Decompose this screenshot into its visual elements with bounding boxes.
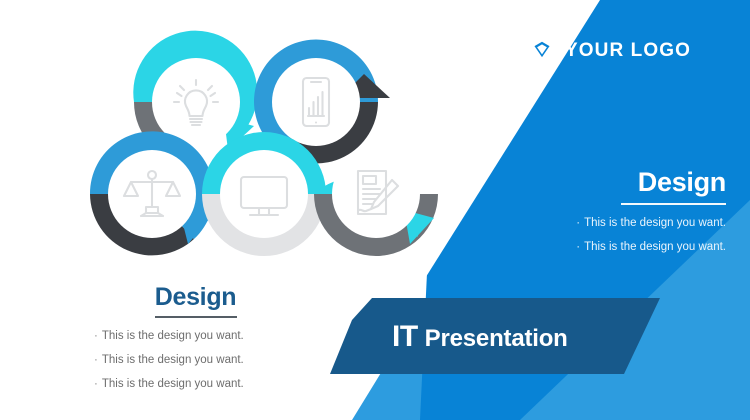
logo-text: YOUR LOGO [565, 41, 691, 60]
left-bullet-3: ·This is the design you want. [88, 378, 303, 390]
left-bullet-3-text: This is the design you want. [102, 378, 244, 390]
logo[interactable]: YOUR LOGO [528, 36, 691, 64]
slide-title: ITPresentation [392, 322, 568, 352]
right-bullet-1-dot: · [576, 217, 580, 229]
left-bullet-2-dot: · [94, 354, 98, 366]
slide-title-rest: Presentation [425, 325, 568, 352]
hexagon-logo-icon [528, 36, 556, 64]
circle-display[interactable] [202, 132, 326, 256]
left-bullet-2-text: This is the design you want. [102, 354, 244, 366]
five-circle-process-diagram: .ico{fill:none;stroke:#DCDEE0;stroke-wid… [84, 22, 464, 282]
left-bullet-1-dot: · [94, 330, 98, 342]
left-heading: Design [88, 284, 303, 312]
right-bullet-2: ·This is the design you want. [456, 241, 726, 253]
left-bullet-1-text: This is the design you want. [102, 330, 244, 342]
right-bullet-1-text: This is the design you want. [584, 217, 726, 229]
right-heading-underline [621, 203, 726, 205]
left-design-block: Design ·This is the design you want. ·Th… [88, 284, 303, 390]
left-heading-underline [155, 316, 237, 318]
slide-canvas: YOUR LOGO .ico{fill:none;stroke:#DCDEE0;… [0, 0, 750, 420]
right-bullet-2-dot: · [576, 241, 580, 253]
circle-contract[interactable] [314, 150, 438, 256]
circle-mobile-inner [272, 58, 360, 146]
right-bullet-2-text: This is the design you want. [584, 241, 726, 253]
right-heading: Design [456, 168, 726, 198]
circle-idea-inner [152, 58, 240, 146]
slide-title-bold: IT [392, 320, 418, 353]
left-bullet-3-dot: · [94, 378, 98, 390]
right-design-block: Design ·This is the design you want. ·Th… [456, 168, 726, 253]
right-bullet-1: ·This is the design you want. [456, 217, 726, 229]
circle-balance[interactable] [90, 131, 214, 255]
left-bullet-1: ·This is the design you want. [88, 330, 303, 342]
left-bullet-2: ·This is the design you want. [88, 354, 303, 366]
circle-display-inner [220, 150, 308, 238]
